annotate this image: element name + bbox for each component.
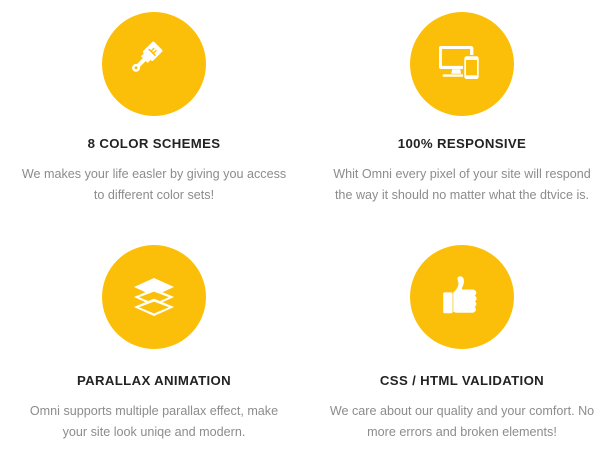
paint-brush-icon (131, 41, 177, 87)
feature-title: 100% RESPONSIVE (398, 137, 526, 150)
feature-description: We care about our quality and your comfo… (326, 401, 598, 443)
paint-brush-icon-badge[interactable] (102, 12, 206, 116)
feature-description: We makes your life easler by giving you … (20, 164, 288, 206)
layers-stack-icon-badge[interactable] (102, 245, 206, 349)
feature-description: Whit Omni every pixel of your site will … (324, 164, 600, 206)
feature-card-parallax[interactable]: PARALLAX ANIMATION Omni supports multipl… (0, 231, 308, 462)
layers-stack-icon (132, 276, 176, 318)
feature-card-validation[interactable]: CSS / HTML VALIDATION We care about our … (308, 231, 616, 462)
thumbs-up-icon-badge[interactable] (410, 245, 514, 349)
feature-card-color-schemes[interactable]: 8 COLOR SCHEMES We makes your life easle… (0, 0, 308, 231)
responsive-devices-icon-badge[interactable] (410, 12, 514, 116)
feature-title: 8 COLOR SCHEMES (88, 137, 221, 150)
responsive-devices-icon (439, 44, 485, 84)
thumbs-up-icon (441, 274, 483, 320)
feature-card-responsive[interactable]: 100% RESPONSIVE Whit Omni every pixel of… (308, 0, 616, 231)
features-grid: 8 COLOR SCHEMES We makes your life easle… (0, 0, 616, 462)
feature-title: CSS / HTML VALIDATION (380, 374, 544, 387)
feature-description: Omni supports multiple parallax effect, … (21, 401, 287, 443)
feature-title: PARALLAX ANIMATION (77, 374, 231, 387)
